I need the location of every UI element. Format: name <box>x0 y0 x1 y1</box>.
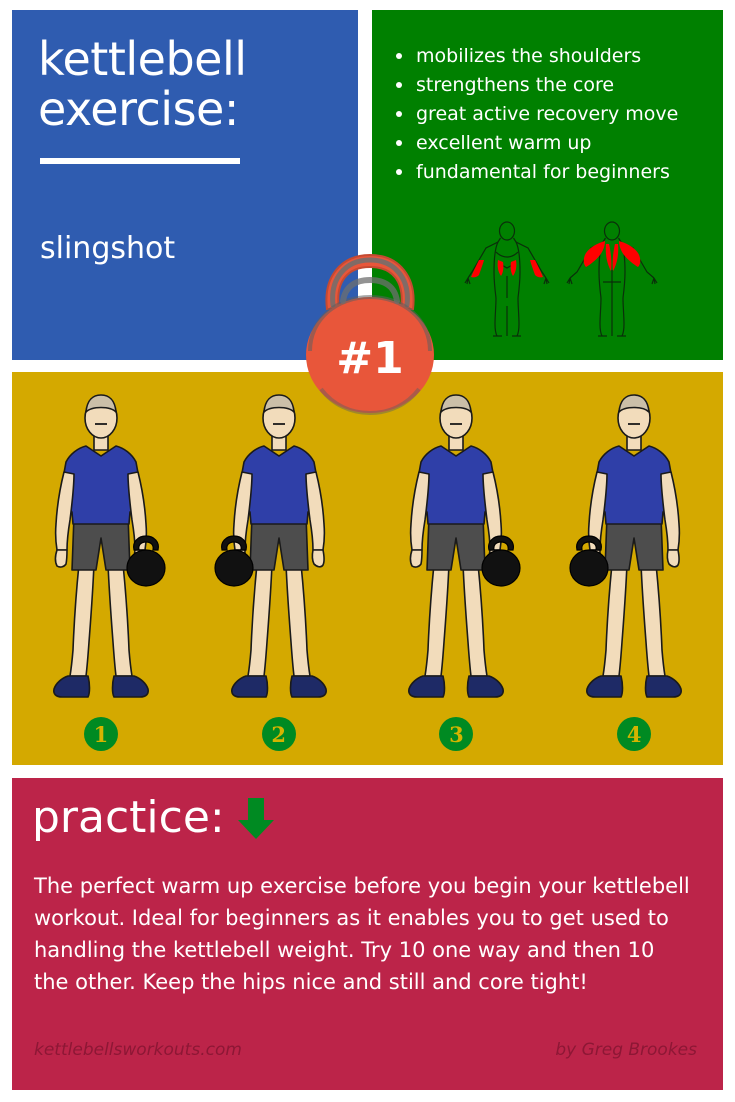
infographic-poster: kettlebell exercise: slingshot mobilizes… <box>0 0 735 1102</box>
bullet-icon <box>396 82 402 88</box>
practice-label: practice: <box>32 794 225 842</box>
list-item: mobilizes the shoulders <box>390 42 710 71</box>
bullet-icon <box>396 111 402 117</box>
footer-site: kettlebellsworkouts.com <box>34 1040 242 1060</box>
footer-author: by Greg Brookes <box>555 1040 697 1060</box>
figure-row <box>12 386 723 706</box>
person-with-kettlebell-icon <box>194 388 364 706</box>
step-figure-3 <box>371 388 541 706</box>
back-highlight-shoulders-traps <box>584 241 641 271</box>
list-item: fundamental for beginners <box>390 158 710 187</box>
practice-panel: practice: The perfect warm up exercise b… <box>12 778 723 1090</box>
step-figure-2 <box>194 388 364 706</box>
benefits-list: mobilizes the shoulders strengthens the … <box>390 42 710 187</box>
step-badge-2: 2 <box>262 717 296 751</box>
front-body-icon <box>465 222 549 336</box>
page-title: kettlebell exercise: <box>38 34 338 134</box>
title-line-2: exercise: <box>38 84 338 134</box>
list-item: strengthens the core <box>390 71 710 100</box>
steps-panel: 1 2 3 4 <box>12 372 723 765</box>
step-badge-1: 1 <box>84 717 118 751</box>
step-figure-4 <box>549 388 719 706</box>
step-number-row: 1 2 3 4 <box>12 714 723 754</box>
arrow-down-icon <box>233 794 279 842</box>
benefit-label: fundamental for beginners <box>416 161 670 183</box>
benefit-label: excellent warm up <box>416 132 592 154</box>
back-body-icon <box>567 222 657 336</box>
practice-description: The perfect warm up exercise before you … <box>34 870 694 998</box>
kettlebell-number-badge: #1 <box>297 247 443 417</box>
kettlebell-icon <box>297 247 443 417</box>
bullet-icon <box>396 140 402 146</box>
step-badge-3: 3 <box>439 717 473 751</box>
benefit-label: great active recovery move <box>416 103 678 125</box>
title-underline-rule <box>40 158 240 164</box>
front-highlight-forearms <box>471 260 543 277</box>
benefit-label: strengthens the core <box>416 74 614 96</box>
step-badge-4: 4 <box>617 717 651 751</box>
muscle-anatomy-diagram <box>462 220 712 340</box>
bullet-icon <box>396 53 402 59</box>
person-with-kettlebell-icon <box>549 388 719 706</box>
benefit-label: mobilizes the shoulders <box>416 45 641 67</box>
person-with-kettlebell-icon <box>16 388 186 706</box>
title-line-1: kettlebell <box>38 34 338 84</box>
exercise-name: slingshot <box>40 232 340 266</box>
bullet-icon <box>396 169 402 175</box>
practice-heading: practice: <box>32 794 279 842</box>
list-item: excellent warm up <box>390 129 710 158</box>
list-item: great active recovery move <box>390 100 710 129</box>
step-figure-1 <box>16 388 186 706</box>
person-with-kettlebell-icon <box>371 388 541 706</box>
